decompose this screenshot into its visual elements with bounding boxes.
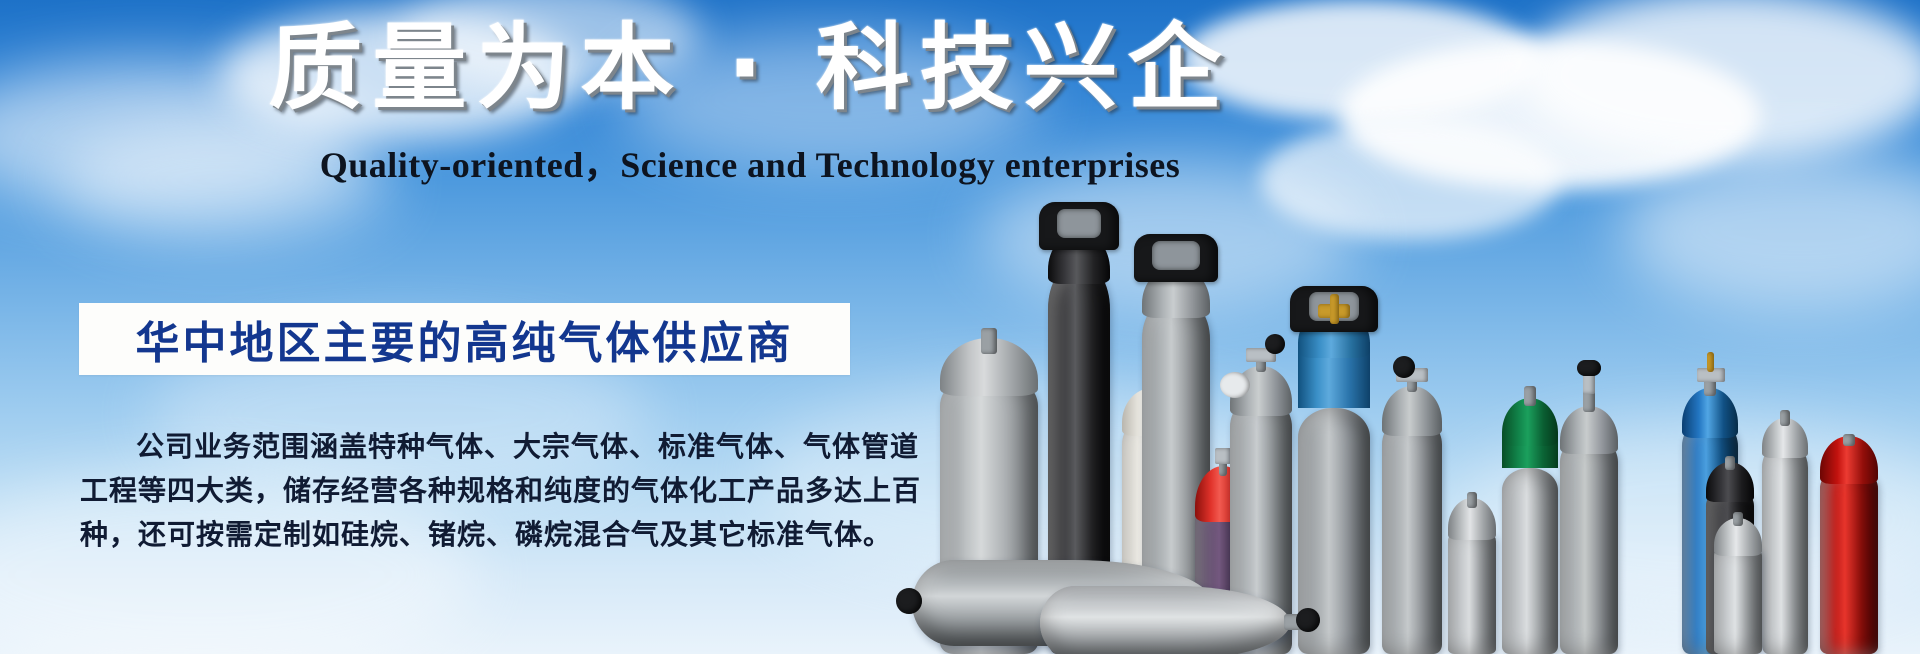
valve-knob [1577,360,1601,376]
valve-knob [896,588,922,614]
blue-grey-cylinder [1298,286,1370,654]
tagline-box: 华中地区主要的高纯气体供应商 [79,303,850,375]
grey-knob-cylinder [1382,364,1442,654]
cylinder-valve [1215,448,1231,464]
lying-cylinder-small [1040,586,1290,654]
red-cylinder [1820,436,1878,654]
valve-guard [1039,202,1119,250]
valve-knob [1296,608,1320,632]
cloud-decoration [1520,0,1920,160]
tagline-text: 华中地区主要的高纯气体供应商 [136,307,794,371]
valve-knob [1265,334,1285,354]
paragraph-line: 种，还可按需定制如硅烷、锗烷、磷烷混合气及其它标准气体。 [80,513,870,557]
pressure-gauge [1220,372,1250,398]
paragraph-line: 工程等四大类，储存经营各种规格和纯度的气体化工产品多达上百 [80,469,870,513]
aluminium-cylinder [1762,410,1808,654]
brass-valve [1707,352,1715,372]
page-title: 质量为本 · 科技兴企 [0,22,1500,116]
aluminium-mini-cylinder [1714,512,1762,654]
hero-banner: 质量为本 · 科技兴企 Quality-oriented，Science and… [0,0,1920,654]
brass-valve [1330,294,1339,324]
green-top-cylinder [1502,386,1558,654]
description-paragraph: 公司业务范围涵盖特种气体、大宗气体、标准气体、气体管道 工程等四大类，储存经营各… [80,425,870,557]
valve-guard [1134,234,1218,282]
gas-cylinder-group [930,150,1920,654]
paragraph-line: 公司业务范围涵盖特种气体、大宗气体、标准气体、气体管道 [80,425,870,469]
grey-stem-cylinder [1560,354,1618,654]
valve-knob [1393,356,1415,378]
aluminium-small-cylinder [1448,492,1496,654]
